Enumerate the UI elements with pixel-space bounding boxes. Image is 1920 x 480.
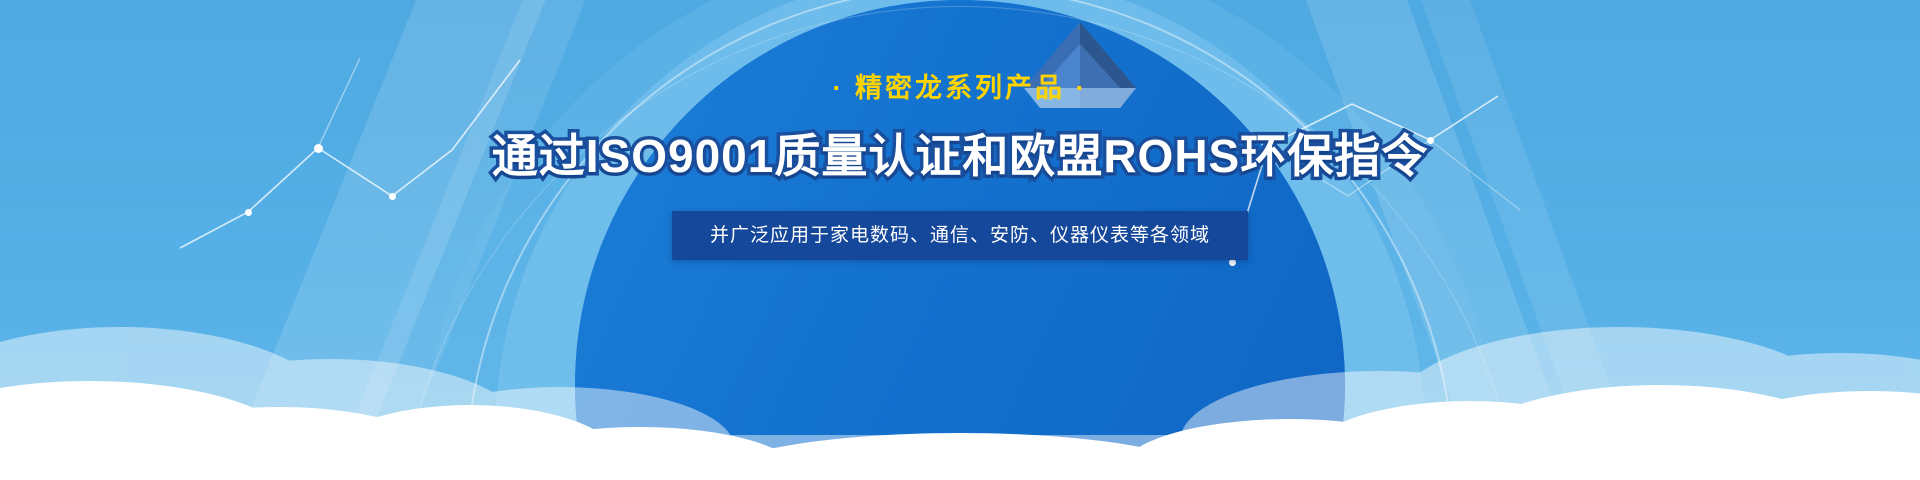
- banner-headline: 通过ISO9001质量认证和欧盟ROHS环保指令: [492, 130, 1428, 183]
- banner-eyebrow: · 精密龙系列产品 ·: [833, 75, 1088, 102]
- clouds-icon: [0, 265, 1920, 480]
- banner-tagline-bar: 并广泛应用于家电数码、通信、安防、仪器仪表等各领域: [672, 211, 1248, 260]
- promo-banner: · 精密龙系列产品 · 通过ISO9001质量认证和欧盟ROHS环保指令 并广泛…: [0, 0, 1920, 480]
